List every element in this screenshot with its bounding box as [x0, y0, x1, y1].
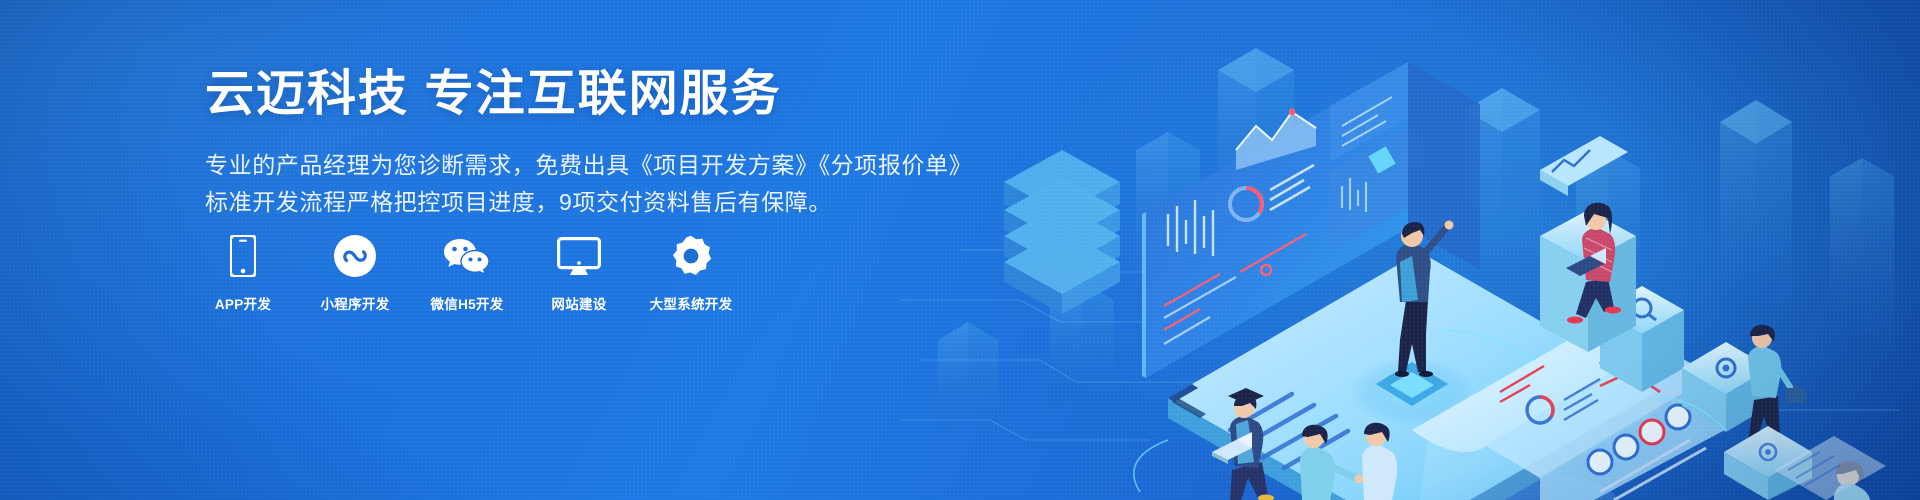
standing-person-pointing [1395, 221, 1454, 378]
search-cube-icon [1600, 286, 1684, 392]
gear-cube-icon [1682, 342, 1770, 432]
service-label: 网站建设 [551, 293, 606, 313]
service-item-app[interactable]: APP开发 [204, 231, 282, 313]
gear-icon [670, 231, 712, 277]
service-list: APP开发 小程序开发 微信 [204, 231, 730, 313]
data-ribbon-charts [1412, 322, 1766, 500]
page-title: 云迈科技 专注互联网服务 [205, 66, 965, 124]
mini-program-icon [334, 231, 376, 277]
service-label: 大型系统开发 [650, 293, 733, 313]
hero-banner: 云迈科技 专注互联网服务 专业的产品经理为您诊断需求，免费出具《项目开发方案》《… [0, 0, 1920, 500]
service-item-wechat-h5[interactable]: 微信H5开发 [428, 231, 506, 313]
extra-person [1834, 461, 1870, 500]
code-panel [1774, 436, 1886, 500]
service-item-large-system[interactable]: 大型系统开发 [652, 231, 730, 313]
businessman-with-briefcase [1724, 325, 1812, 500]
dashboard-screen [1138, 62, 1480, 420]
connector-lines [900, 250, 1900, 440]
monitor-icon [557, 231, 601, 277]
service-label: APP开发 [215, 293, 271, 313]
mobile-phone-icon [230, 231, 256, 277]
banner-subtitle: 专业的产品经理为您诊断需求，免费出具《项目开发方案》《分项报价单》 标准开发流程… [205, 147, 965, 222]
pedestal-cube [1540, 210, 1636, 352]
wechat-icon [443, 231, 491, 277]
isometric-data-dashboard-illustration [900, 0, 1920, 500]
woman-on-cube-with-laptop [1566, 203, 1621, 324]
service-item-mini-program[interactable]: 小程序开发 [316, 231, 394, 313]
two-people-talking [1300, 423, 1397, 500]
subtitle-line-2: 标准开发流程严格把控项目进度，9项交付资料售后有保障。 [205, 184, 965, 221]
floating-chart-card [1540, 136, 1628, 196]
service-label: 微信H5开发 [430, 293, 503, 313]
server-stack [1004, 150, 1120, 314]
tablet-platform [1168, 252, 1660, 500]
service-item-website[interactable]: 网站建设 [540, 231, 618, 313]
subtitle-line-1: 专业的产品经理为您诊断需求，免费出具《项目开发方案》《分项报价单》 [205, 147, 965, 184]
banner-copy: 云迈科技 专注互联网服务 专业的产品经理为您诊断需求，免费出具《项目开发方案》《… [205, 66, 965, 221]
skyline-buildings [938, 48, 1894, 438]
service-label: 小程序开发 [321, 293, 390, 313]
seated-person-with-laptop [1212, 388, 1274, 500]
